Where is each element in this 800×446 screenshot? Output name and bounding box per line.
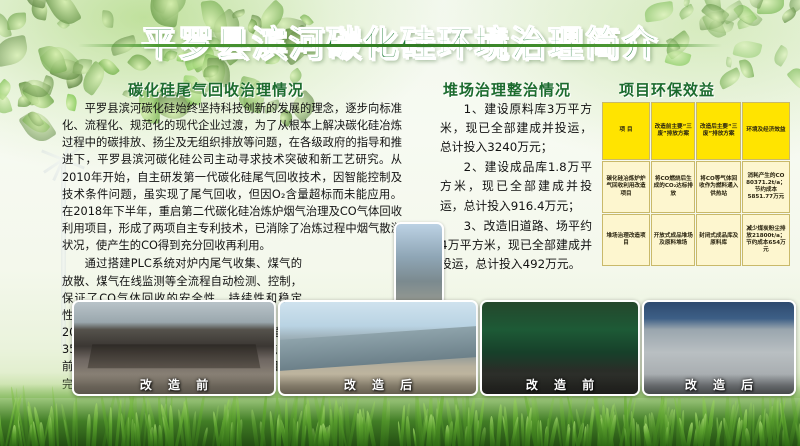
stockyard-item-2: 2、建设成品库1.8万平方米，现已全部建成并投运，总计投入916.4万元；: [440, 158, 592, 215]
cell-after: 封闭式成品库及原料库: [696, 214, 740, 266]
leaf-shape: [18, 106, 57, 147]
grass-blade: [504, 406, 510, 446]
grass-blade: [520, 413, 525, 446]
cell-benefit: 减少煤炭粉尘排放21800t/a；节约成本654万元: [742, 214, 790, 266]
photo-after-warehouse: 改 造 后: [278, 300, 478, 396]
grass-blade: [635, 422, 637, 446]
photo-caption: 改 造 后: [280, 374, 476, 394]
section-heading-stockyard: 堆场治理整治情况: [443, 79, 571, 100]
page-title: 平罗县滨河碳化硅环境治理简介: [141, 16, 659, 67]
photo-caption: 改 造 前: [482, 374, 638, 394]
inline-facility-photo: [394, 222, 444, 308]
mid-text-column: 1、建设原料库3万平方米，现已全部建成并投运，总计投入3240万元； 2、建设成…: [440, 100, 592, 275]
leaf-shape: [786, 64, 800, 95]
grass-blade: [109, 407, 112, 446]
grass-blade: [333, 400, 338, 446]
grass-blade: [61, 403, 72, 446]
table-row: 碳化硅冶炼炉炉气回收利用改造项目 将CO燃烧后生成的CO₂达标排放 将CO等气体…: [602, 161, 790, 213]
photo-caption: 改 造 后: [644, 374, 794, 394]
grass-blade: [92, 403, 99, 446]
grass-blade: [490, 416, 495, 446]
table-header-benefit: 环境及经济效益: [742, 102, 790, 160]
cell-before: 开放式成品堆场及原料堆场: [651, 214, 695, 266]
table-header-before: 改造前主要“三废”排放方案: [651, 102, 695, 160]
table-row: 堆场治理改造项目 开放式成品堆场及原料堆场 封闭式成品库及原料库 减少煤炭粉尘排…: [602, 214, 790, 266]
paragraph-tailgas-1: 平罗县滨河碳化硅始终坚持科技创新的发展的理念，逐步向标准化、流程化、规范化的现代…: [62, 100, 402, 254]
grass-blade: [768, 395, 772, 446]
grass-blade: [306, 398, 314, 446]
table-header-project: 项 目: [602, 102, 650, 160]
grass-blade: [341, 402, 344, 446]
leaf-shape: [716, 66, 743, 89]
inline-facility-image: [396, 224, 442, 306]
table-header-after: 改造后主要“三废”排放方案: [696, 102, 740, 160]
poster-title-bar: 平罗县滨河碳化硅环境治理简介: [0, 16, 800, 62]
environmental-benefit-table: 项 目 改造前主要“三废”排放方案 改造后主要“三废”排放方案 环境及经济效益 …: [601, 101, 791, 267]
section-heading-tailgas: 碳化硅尾气回收治理情况: [128, 79, 304, 100]
grass-blade: [480, 427, 487, 446]
grass-blade: [12, 425, 16, 446]
photo-before-stockpile: 改 造 前: [480, 300, 640, 396]
stockyard-item-3: 3、改造旧道路、场平约4万平方米，现已全部建成并投运，总计投入492万元。: [440, 217, 592, 274]
photo-caption: 改 造 前: [74, 374, 274, 394]
photo-after-road: 改 造 后: [642, 300, 796, 396]
table-header-row: 项 目 改造前主要“三废”排放方案 改造后主要“三废”排放方案 环境及经济效益: [602, 102, 790, 160]
grass-blade: [86, 413, 91, 446]
cell-after: 将CO等气体回收作为燃料通入供热站: [696, 161, 740, 213]
roof-shape: [278, 326, 478, 372]
cell-project: 堆场治理改造项目: [602, 214, 650, 266]
cell-before: 将CO燃烧后生成的CO₂达标排放: [651, 161, 695, 213]
grass-blade: [496, 404, 503, 446]
title-underline: [78, 44, 722, 47]
section-heading-benefits: 项目环保效益: [619, 79, 715, 100]
grass-blade: [202, 428, 209, 446]
grass-blade: [250, 409, 259, 446]
rail-shape: [88, 345, 261, 369]
photo-before-yard: 改 造 前: [72, 300, 276, 396]
grass-blade: [75, 390, 78, 446]
cell-benefit: 消耗产生的CO 80371.2t/a；节约成本5851.77万元: [742, 161, 790, 213]
poster-canvas: 平罗县滨河碳化硅环境治理简介 碳化硅尾气回收治理情况 堆场治理整治情况 项目环保…: [0, 0, 800, 446]
grass-blade: [445, 425, 449, 446]
grass-blade: [601, 405, 605, 446]
cell-project: 碳化硅冶炼炉炉气回收利用改造项目: [602, 161, 650, 213]
stockyard-item-1: 1、建设原料库3万平方米，现已全部建成并投运，总计投入3240万元；: [440, 100, 592, 157]
